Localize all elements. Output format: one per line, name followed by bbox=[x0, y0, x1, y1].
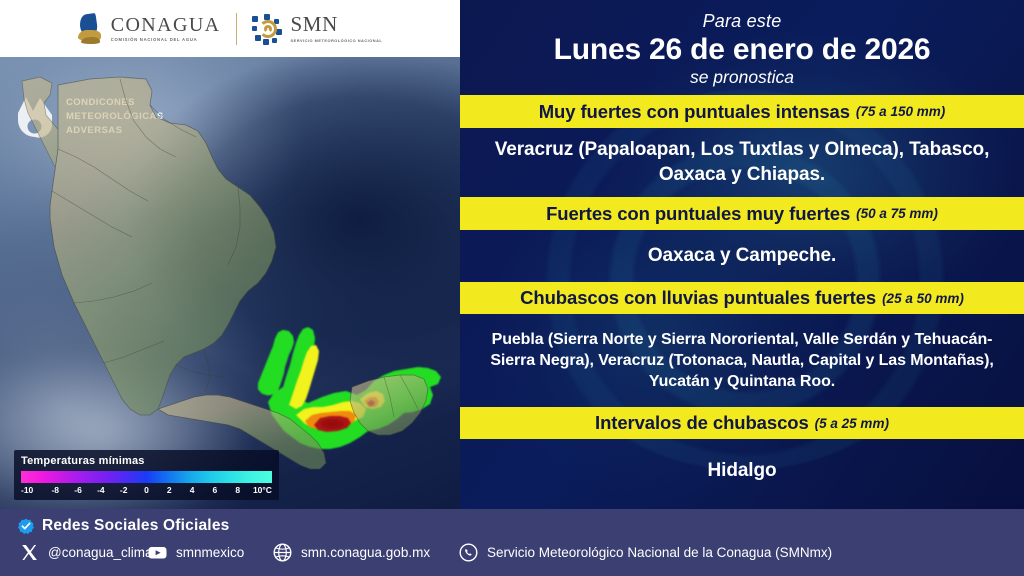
tick-label: 6 bbox=[204, 485, 227, 495]
date-header: Para este Lunes 26 de enero de 2026 se p… bbox=[460, 0, 1024, 95]
smn-wordmark: SMN bbox=[291, 14, 383, 35]
social-link-website[interactable]: smn.conagua.gob.mx bbox=[273, 543, 459, 562]
infographic-root: CONAGUA COMISIÓN NACIONAL DEL AGUA bbox=[0, 0, 1024, 576]
conagua-subtitle: COMISIÓN NACIONAL DEL AGUA bbox=[111, 38, 221, 42]
date-prefix: Para este bbox=[703, 11, 782, 32]
forecast-category-header-4: Intervalos de chubascos (5 a 25 mm) bbox=[460, 407, 1024, 439]
mexico-map-graphic bbox=[0, 57, 460, 509]
category-title: Intervalos de chubascos bbox=[595, 412, 809, 434]
regions-text: Oaxaca y Campeche. bbox=[648, 244, 836, 268]
forecast-category-header-2: Fuertes con puntuales muy fuertes (50 a … bbox=[460, 197, 1024, 230]
forecast-regions-2: Oaxaca y Campeche. bbox=[460, 230, 1024, 282]
tick-label: 10°C bbox=[249, 485, 272, 495]
temperature-tick-labels: -10 -8 -6 -4 -2 0 2 4 6 8 10°C bbox=[21, 485, 272, 495]
tick-label: -10 bbox=[21, 485, 44, 495]
smn-subtitle: SERVICIO METEOROLÓGICO NACIONAL bbox=[291, 38, 383, 44]
social-label: Servicio Meteorológico Nacional de la Co… bbox=[487, 545, 832, 560]
forecast-regions-3: Puebla (Sierra Norte y Sierra Nororienta… bbox=[460, 314, 1024, 407]
legend-title: Temperaturas mínimas bbox=[21, 455, 272, 467]
tick-label: 2 bbox=[158, 485, 181, 495]
tick-label: -2 bbox=[112, 485, 135, 495]
logo-divider bbox=[236, 13, 237, 45]
verified-badge-icon bbox=[18, 518, 34, 534]
social-label: @conagua_clima bbox=[48, 545, 153, 560]
date-suffix: se pronostica bbox=[690, 67, 794, 88]
category-title: Chubascos con lluvias puntuales fuertes bbox=[520, 287, 876, 309]
regions-text: Veracruz (Papaloapan, Los Tuxtlas y Olme… bbox=[482, 138, 1002, 187]
temperature-legend: Temperaturas mínimas -10 -8 -6 -4 -2 0 2… bbox=[14, 450, 279, 500]
social-media-bar: Redes Sociales Oficiales @conagua_clima bbox=[0, 509, 1024, 576]
spiral-glyph-logo-icon bbox=[252, 14, 282, 44]
tick-label: -6 bbox=[67, 485, 90, 495]
social-label: smn.conagua.gob.mx bbox=[301, 545, 430, 560]
category-title: Fuertes con puntuales muy fuertes bbox=[546, 203, 850, 225]
globe-website-icon bbox=[273, 543, 292, 562]
regions-text: Hidalgo bbox=[708, 459, 777, 483]
tick-label: 4 bbox=[181, 485, 204, 495]
tick-label: -8 bbox=[44, 485, 67, 495]
social-heading: Redes Sociales Oficiales bbox=[42, 517, 229, 535]
left-column: CONAGUA COMISIÓN NACIONAL DEL AGUA bbox=[0, 0, 460, 509]
social-links-row: @conagua_clima smnmexico bbox=[20, 543, 1010, 562]
forecast-panel: Para este Lunes 26 de enero de 2026 se p… bbox=[460, 0, 1024, 509]
social-label: smnmexico bbox=[176, 545, 244, 560]
youtube-icon bbox=[148, 543, 167, 562]
smn-logo: SMN SERVICIO METEOROLÓGICO NACIONAL bbox=[252, 14, 383, 44]
category-range: (25 a 50 mm) bbox=[882, 291, 964, 306]
conagua-logo: CONAGUA COMISIÓN NACIONAL DEL AGUA bbox=[78, 14, 221, 44]
whatsapp-icon bbox=[459, 543, 478, 562]
temperature-color-bar bbox=[21, 471, 272, 483]
water-drop-logo-icon bbox=[78, 14, 102, 44]
forecast-date: Lunes 26 de enero de 2026 bbox=[554, 33, 931, 66]
x-twitter-icon bbox=[20, 543, 39, 562]
tick-label: -4 bbox=[89, 485, 112, 495]
category-range: (5 a 25 mm) bbox=[815, 416, 889, 431]
forecast-regions-1: Veracruz (Papaloapan, Los Tuxtlas y Olme… bbox=[460, 128, 1024, 197]
map-panel: Condicones Meteorológicas Adversas bbox=[0, 57, 460, 509]
social-link-youtube[interactable]: smnmexico bbox=[148, 543, 273, 562]
conagua-wordmark: CONAGUA bbox=[111, 15, 221, 35]
category-range: (75 a 150 mm) bbox=[856, 104, 945, 119]
social-link-x[interactable]: @conagua_clima bbox=[20, 543, 148, 562]
category-range: (50 a 75 mm) bbox=[856, 206, 938, 221]
tick-label: 0 bbox=[135, 485, 158, 495]
tick-label: 8 bbox=[226, 485, 249, 495]
category-title: Muy fuertes con puntuales intensas bbox=[539, 101, 850, 123]
social-link-whatsapp[interactable]: Servicio Meteorológico Nacional de la Co… bbox=[459, 543, 832, 562]
social-heading-group: Redes Sociales Oficiales bbox=[18, 517, 229, 535]
forecast-category-header-1: Muy fuertes con puntuales intensas (75 a… bbox=[460, 95, 1024, 128]
forecast-category-header-3: Chubascos con lluvias puntuales fuertes … bbox=[460, 282, 1024, 314]
forecast-regions-4: Hidalgo bbox=[460, 439, 1024, 504]
logo-bar: CONAGUA COMISIÓN NACIONAL DEL AGUA bbox=[0, 0, 460, 57]
regions-text: Puebla (Sierra Norte y Sierra Nororienta… bbox=[482, 329, 1002, 393]
